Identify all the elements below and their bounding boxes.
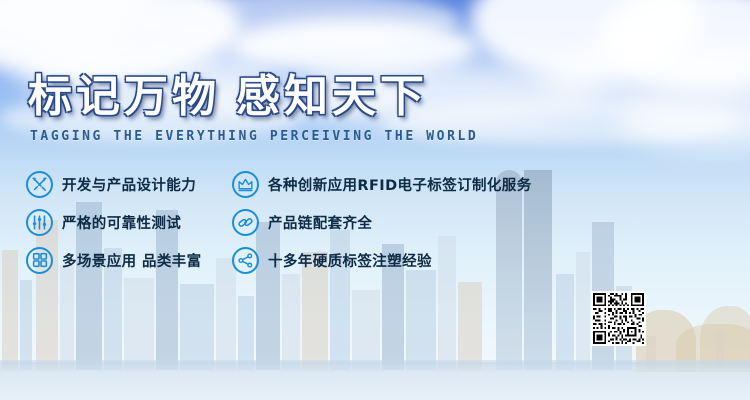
qr-code-image (591, 291, 646, 346)
feature-item-molding-experience[interactable]: 十多年硬质标签注塑经验 (232, 241, 532, 279)
feature-column-left: 开发与产品设计能力 严格的可靠性测试 (26, 165, 202, 279)
subheadline: TAGGING THE EVERYTHING PERCEIVING THE WO… (30, 129, 478, 144)
feature-label: 十多年硬质标签注塑经验 (268, 250, 432, 271)
qr-code[interactable] (591, 291, 646, 346)
feature-column-right: 各种创新应用RFID电子标签订制化服务 产品链配套齐全 (232, 165, 532, 279)
headline: 标记万物感知天下 (28, 75, 428, 119)
feature-label: 开发与产品设计能力 (62, 174, 196, 195)
headline-part-2: 感知天下 (236, 71, 428, 122)
feature-item-rfid-customization[interactable]: 各种创新应用RFID电子标签订制化服务 (232, 165, 532, 203)
headline-part-1: 标记万物 (28, 71, 220, 122)
feature-item-reliability-test[interactable]: 严格的可靠性测试 (26, 203, 202, 241)
feature-label: 多场景应用 品类丰富 (62, 250, 202, 271)
crown-icon (232, 171, 259, 198)
feature-label: 严格的可靠性测试 (62, 212, 181, 233)
grid-icon (26, 247, 53, 274)
share-icon (232, 247, 259, 274)
feature-item-development[interactable]: 开发与产品设计能力 (26, 165, 202, 203)
feature-label: 产品链配套齐全 (268, 212, 372, 233)
feature-item-multi-scenario[interactable]: 多场景应用 品类丰富 (26, 241, 202, 279)
promo-banner: 标记万物感知天下 TAGGING THE EVERYTHING PERCEIVI… (0, 0, 750, 400)
feature-item-supply-chain[interactable]: 产品链配套齐全 (232, 203, 532, 241)
feature-label: 各种创新应用RFID电子标签订制化服务 (268, 174, 532, 195)
sliders-icon (26, 209, 53, 236)
tools-icon (26, 171, 53, 198)
link-icon (232, 209, 259, 236)
